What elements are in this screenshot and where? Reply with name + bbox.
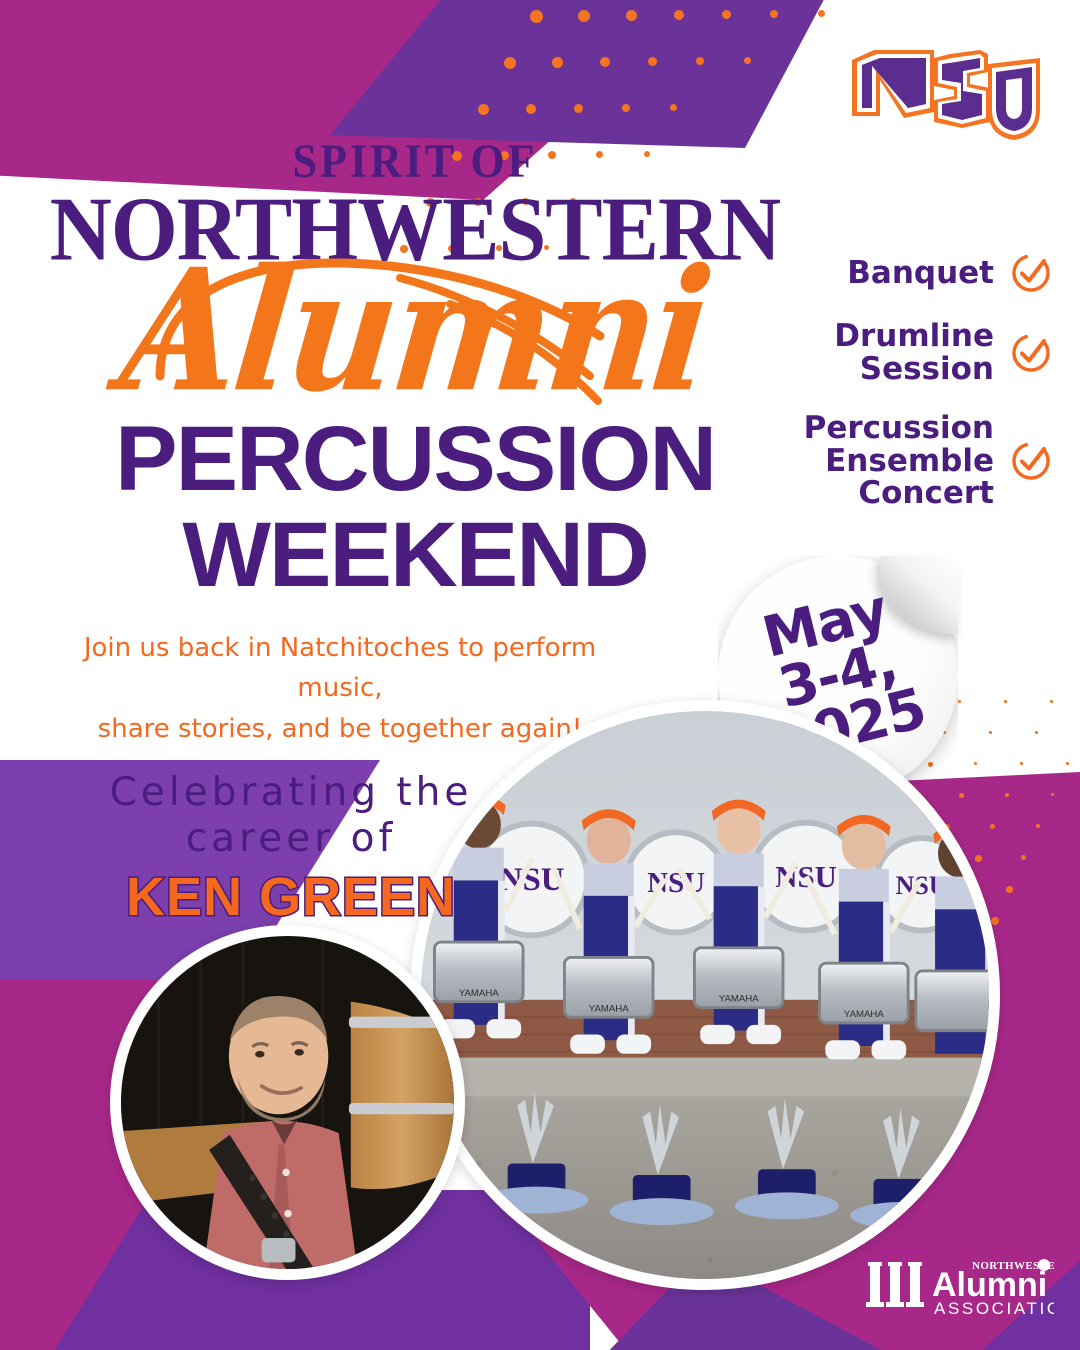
honoree-block: Celebrating the career of KEN GREEN: [96, 770, 486, 928]
checklist-item-percussion-ensemble-concert: PercussionEnsembleConcert: [787, 412, 1052, 511]
ken-green-portrait-photo: [110, 925, 465, 1280]
headline-script: Alumni: [0, 247, 839, 415]
alumni-script-wrap: Alumni: [0, 256, 830, 406]
checklist-item-drumline-session: DrumlineSession: [787, 320, 1052, 386]
three-pillars-icon: [866, 1262, 924, 1307]
svg-text:YAMAHA: YAMAHA: [719, 994, 759, 1005]
svg-text:YAMAHA: YAMAHA: [459, 988, 499, 999]
svg-text:YAMAHA: YAMAHA: [844, 1009, 884, 1020]
headline-event-line2: WEEKEND: [0, 512, 838, 598]
event-flyer: SPIRIT OF NORTHWESTERN Alumni PERCUSSION…: [0, 0, 1080, 1350]
honoree-name: KEN GREEN: [96, 866, 486, 928]
intro-text: Join us back in Natchitoches to perform …: [40, 628, 640, 749]
event-checklist: Banquet DrumlineSession PercussionEnsemb…: [787, 252, 1052, 536]
svg-text:YAMAHA: YAMAHA: [589, 1003, 629, 1014]
svg-text:ASSOCIATION: ASSOCIATION: [934, 1299, 1054, 1318]
intro-text-line1: Join us back in Natchitoches to perform …: [40, 628, 640, 709]
nsu-logo: [838, 30, 1048, 140]
headline-event-line1: PERCUSSION: [0, 416, 838, 502]
checklist-item-label: DrumlineSession: [834, 320, 994, 386]
check-circle-icon: [1010, 440, 1052, 482]
headline-block: SPIRIT OF NORTHWESTERN Alumni PERCUSSION…: [0, 140, 830, 599]
honoree-line2: career of: [96, 816, 486, 862]
honoree-line1: Celebrating the: [96, 770, 486, 816]
check-circle-icon: [1010, 252, 1052, 294]
checklist-item-label: Banquet: [847, 257, 994, 290]
checklist-item-banquet: Banquet: [787, 252, 1052, 294]
alumni-association-logo: NORTHWESTERN STATE Alumni ASSOCIATION: [864, 1252, 1054, 1322]
drumline-performance-photo: NSU NSU NSU NSU: [410, 700, 1000, 1290]
checklist-item-label: PercussionEnsembleConcert: [804, 412, 994, 511]
check-circle-icon: [1010, 332, 1052, 374]
